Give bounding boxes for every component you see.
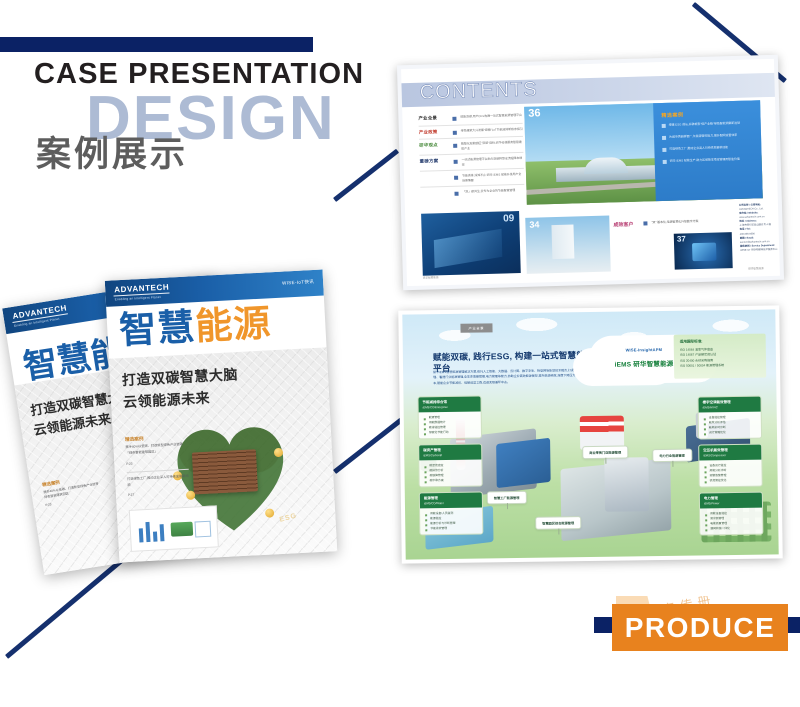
contents-customer-block: 成效客户 "双" 基本化,电源智慧化升级数字方案 bbox=[613, 218, 733, 228]
toc-label bbox=[420, 190, 450, 191]
contents-title: CONTENTS bbox=[419, 78, 538, 104]
module-code: iEMS/CarbonB bbox=[423, 453, 477, 458]
featured-item-text: 绿建 ESG 成长,开辟新型"低产业链"绿色智能洞察新途径 bbox=[669, 121, 740, 128]
module-code: iEMS/Power bbox=[704, 501, 758, 506]
brochure-subtitle-line2: 云领能源未来 bbox=[123, 388, 211, 414]
featured-item: 绿建 ESG 成长,开辟新型"低产业链"绿色智能洞察新途径 bbox=[662, 120, 755, 128]
brochure-cover-front[interactable]: ADVANTECH Enabling an Intelligent Planet… bbox=[105, 269, 337, 562]
bullet-icon bbox=[663, 160, 667, 164]
esg-watermark: ESG bbox=[279, 512, 298, 523]
scenery-office-tower bbox=[604, 457, 649, 512]
toc-label: 产业政策 bbox=[419, 129, 449, 136]
bullet-icon bbox=[454, 192, 458, 196]
featured-item-text: 为城市供能新智厂,灰能源管控能力,提升配网运营效率 bbox=[669, 133, 737, 140]
contact-service: WISE-IoT 研华物联网技术服务中心 bbox=[740, 248, 782, 253]
bullet-icon bbox=[643, 221, 647, 225]
iems-module-card[interactable]: 空压机能效管理 iEMS/Compressor 设备运行监控 用能分析诊断 预警… bbox=[698, 444, 763, 488]
advantech-logo: ADVANTECH bbox=[114, 283, 169, 295]
bullet-icon bbox=[452, 117, 456, 121]
featured-item-text: 研华 iEMS 赋能生产,助力区域降本增效管理用智造价值 bbox=[670, 157, 740, 164]
contents-footer-right: 研华智慧能源 bbox=[748, 266, 764, 270]
contents-brochure-spread[interactable]: CONTENTS 产业全景 赋能双碳,用户DCL构建一站式智慧能源管理平台 产业… bbox=[397, 55, 784, 291]
contents-photo-chip: 37 bbox=[674, 232, 733, 270]
brochure-body-front: 打造双碳智慧大脑 云领能源未来 ESG 精选案例 携手40%以低碳、打造新型绿色… bbox=[109, 347, 337, 562]
iems-module-card[interactable]: 楼宇空调能效管理 iEMS/HVAC 设备监控管理 能效分析评估 能耗实时诊断 … bbox=[697, 396, 762, 440]
brochure-subtitle-line1: 打造双碳智慧大脑 bbox=[121, 364, 238, 391]
contents-photo-stadium: 34 bbox=[525, 215, 611, 273]
iems-module-card[interactable]: 节能减排综合馆 iEMS/CO/Enterprise 能源管理 用能数据统计 碳… bbox=[417, 396, 482, 440]
module-code: iEMS/CO/Enterprise bbox=[423, 405, 477, 410]
bullet-icon bbox=[454, 160, 458, 164]
toc-text: 绿色建筑大兴发展"碳循",IoT节能减排新秩序指引 bbox=[461, 126, 523, 132]
divider bbox=[127, 469, 189, 473]
module-item: 机组管控优化 bbox=[705, 478, 757, 484]
module-item: 运行策略优化 bbox=[704, 430, 756, 436]
standard-item: ISO 50001 / 50004 能源管理系统 bbox=[680, 362, 760, 368]
toc-label: 重磅方案 bbox=[420, 158, 450, 165]
featured-item-text: 打造绿色工厂,推动企业高人可持续发展新动能 bbox=[669, 145, 728, 152]
iems-module-card[interactable]: 碳资产管理 iEMS/CarbonB 碳足迹盘查 碳排放分析 碳核算管理 碳中和… bbox=[418, 444, 483, 488]
bullet-icon bbox=[453, 144, 457, 148]
toc-text: 节能减排,深知不止:研华 iEMS 赋能升级用户全场景需要 bbox=[462, 172, 524, 183]
featured-item: 打造绿色工厂,推动企业高人可持续发展新动能 bbox=[662, 144, 755, 152]
brochure-case-block-front: 精选案例 携手40%以低碳、打造新型绿色产业链等「绿色智能建筑园区」 P.23 … bbox=[125, 434, 190, 504]
iems-standards-box: 适用国际标准: ISO 14064 温室气体盘查 ISO 14067 产品碳足迹… bbox=[674, 334, 767, 379]
contents-page-number-chip: 37 bbox=[677, 234, 686, 243]
bullet-icon bbox=[662, 136, 666, 140]
contents-page-number-stadium: 34 bbox=[529, 219, 539, 229]
top-navy-bar bbox=[0, 37, 313, 52]
page-title-block: CASE PRESENTATION DESIGN 案例展示 bbox=[34, 60, 434, 200]
module-code: iEMS/Compressor bbox=[703, 453, 757, 458]
featured-item: 研华 iEMS 赋能生产,助力区域降本增效管理用智造价值 bbox=[663, 156, 756, 164]
produce-badge[interactable]: PRODUCE bbox=[612, 604, 788, 651]
iems-callout-pill[interactable]: 商业零售门店能源管理 bbox=[582, 445, 628, 459]
customer-heading: 成效客户 bbox=[613, 221, 639, 229]
standards-title: 适用国际标准: bbox=[680, 339, 760, 345]
poster-canvas: CASE PRESENTATION DESIGN 案例展示 CONTENTS 产… bbox=[0, 0, 800, 707]
toc-text: 数智化赋能园区"双碳"目标,研华全栈服务智慧建筑产业 bbox=[461, 140, 523, 151]
iems-module-card[interactable]: 电力管理 iEMS/Power 用能设备监控 需求侧管理 电能质量管理 源网荷储… bbox=[699, 492, 764, 536]
module-item: 源网荷储一体化 bbox=[705, 526, 757, 532]
produce-label: PRODUCE bbox=[625, 612, 776, 644]
toc-row[interactable]: 「双」碳共生,云专为企业的节能智慧管理 bbox=[420, 185, 524, 200]
case-page-1: P.23 bbox=[126, 458, 188, 467]
contents-contact-block: 公司名称 / 公司地址: ADVANTECH Co., Ltd. 官方站 / W… bbox=[739, 203, 783, 268]
brochure-diagram-thumbnail bbox=[129, 505, 219, 552]
bullet-icon bbox=[454, 176, 458, 180]
iems-callout-pill[interactable]: 智慧工厂能源管理 bbox=[487, 491, 527, 505]
module-code: iEMS/CO/Water bbox=[424, 501, 478, 506]
iems-callout-pill[interactable]: 电力行业能源管理 bbox=[652, 449, 692, 463]
brochure-issue-label: WISE-IoT快讯 bbox=[282, 279, 314, 287]
contents-toc-list: 产业全景 赋能双碳,用户DCL构建一站式智慧能源管理平台 产业政策 绿色建筑大兴… bbox=[418, 110, 524, 200]
scenery-machinery bbox=[496, 438, 551, 488]
customer-text: "双" 基本化,电源智慧化升级数字方案 bbox=[651, 219, 698, 227]
toc-text: 一站式能源管理平台助力双碳转型全流程降本增效 bbox=[462, 156, 524, 167]
coin-icon bbox=[265, 508, 274, 517]
brochure-title-part2: 能源 bbox=[194, 302, 272, 347]
case-page-2: P.27 bbox=[128, 490, 190, 499]
toc-label bbox=[420, 174, 450, 175]
iems-module-card[interactable]: 能源管理 iEMS/CO/Water 用能设备/人员监测 能源监控 能源分析与诊… bbox=[419, 492, 484, 536]
module-code: iEMS/HVAC bbox=[703, 405, 757, 410]
contents-photo-building: 09 bbox=[421, 211, 521, 276]
contents-footer-left: 研华智慧能源 bbox=[423, 275, 439, 279]
iems-section-tag: 产业全景 bbox=[460, 323, 492, 332]
contents-page-number-hero: 36 bbox=[528, 107, 541, 119]
toc-text: 赋能双碳,用户DCL构建一站式智慧能源管理平台 bbox=[460, 113, 522, 119]
data-center-icon bbox=[192, 449, 258, 494]
bullet-icon bbox=[662, 148, 666, 152]
bullet-icon bbox=[662, 124, 666, 128]
diagonal-line-middle-lower bbox=[333, 418, 403, 474]
module-item: 碳中和方案 bbox=[425, 478, 477, 484]
brochure-title-front: 智慧能源 bbox=[118, 304, 272, 349]
brochure-header-bar: ADVANTECH Enabling an Intelligent Planet… bbox=[105, 269, 324, 306]
module-item: 节能排放管理 bbox=[425, 526, 477, 532]
toc-text: 「双」碳共生,云专为企业的节能智慧管理 bbox=[462, 188, 515, 194]
case-text-1: 携手40%以低碳、打造新型绿色产业链等「绿色智能建筑园区」 bbox=[125, 442, 188, 456]
toc-label: 产业全景 bbox=[418, 115, 448, 122]
contents-featured-panel: 精选案例 绿建 ESG 成长,开辟新型"低产业链"绿色智能洞察新途径 为城市供能… bbox=[653, 100, 763, 201]
module-item: 绿碳化节能行动 bbox=[424, 430, 476, 436]
iems-callout-pill[interactable]: 智慧园区综合能源管理 bbox=[535, 516, 581, 530]
featured-heading: 精选案例 bbox=[661, 111, 683, 119]
case-text-2: 打造绿色工厂,推动企业深入可持续发展新动能 bbox=[127, 474, 190, 488]
toc-label: 研华观点 bbox=[419, 142, 449, 149]
page-title-cn: 案例展示 bbox=[36, 137, 188, 172]
bullet-icon bbox=[453, 130, 457, 134]
brochure-title-part1: 智慧 bbox=[118, 306, 196, 351]
iems-brochure-spread[interactable]: 产业全景 赋能双碳, 践行ESG, 构建一站式智慧能源管理平台 研华iEMS智慧… bbox=[398, 305, 782, 563]
contents-page-number-building: 09 bbox=[503, 213, 514, 224]
featured-item: 为城市供能新智厂,灰能源管控能力,提升配网运营效率 bbox=[662, 132, 755, 140]
